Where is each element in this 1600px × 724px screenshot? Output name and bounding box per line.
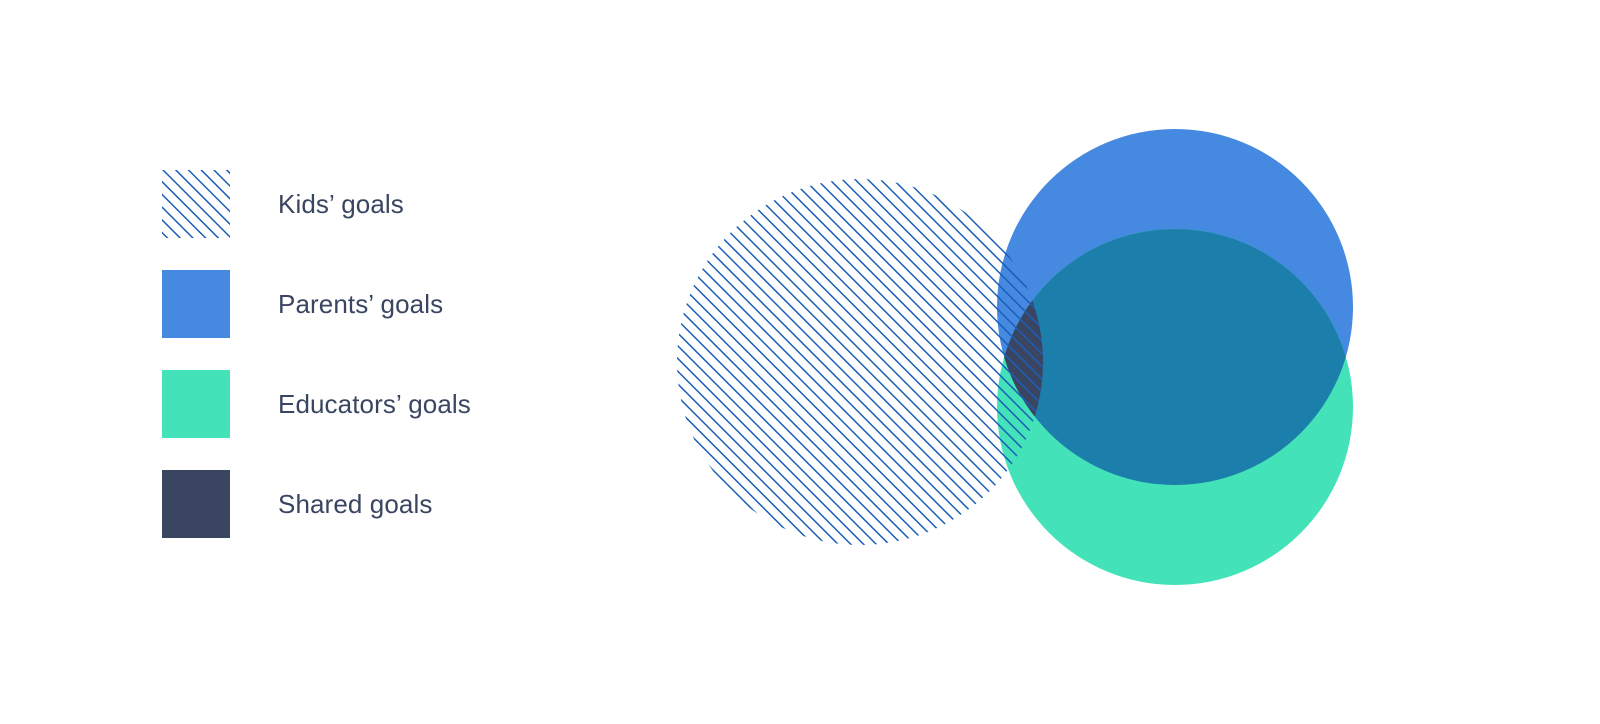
venn-circle-kids bbox=[677, 179, 1043, 545]
venn-diagram bbox=[0, 0, 1600, 724]
venn-figure: Kids’ goals Parents’ goals Educators’ go… bbox=[0, 0, 1600, 724]
